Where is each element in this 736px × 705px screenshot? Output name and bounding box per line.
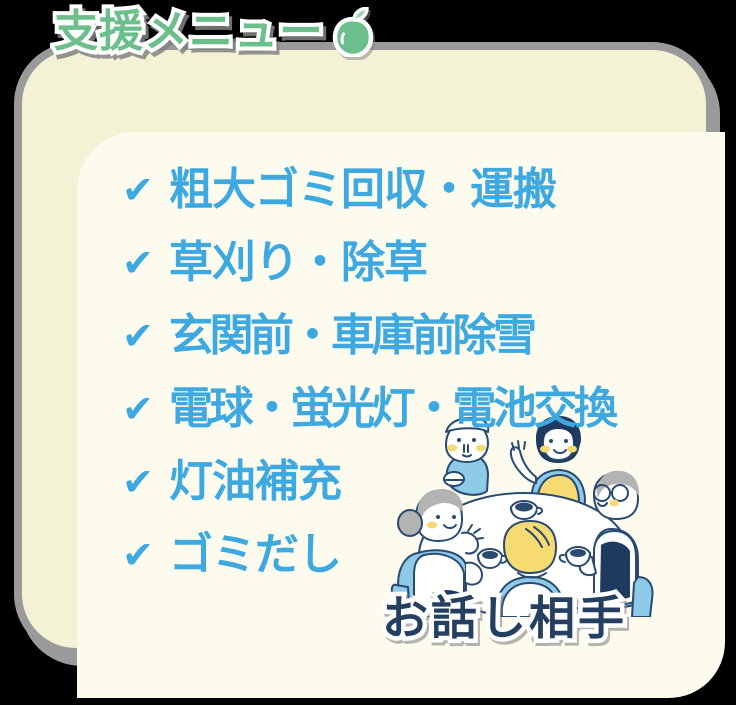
page-title: 支援メニュー [54, 10, 324, 54]
list-item-label: 玄関前・車庫前除雪 [169, 314, 534, 358]
list-item[interactable]: ✔ ゴミだし [122, 518, 702, 591]
check-icon: ✔ [122, 317, 156, 355]
page-title-banner: 支援メニュー [54, 2, 376, 62]
list-item-label: 電球・蛍光灯・電池交換 [169, 387, 615, 431]
caption-label: お話し相手 [382, 595, 627, 641]
check-icon: ✔ [122, 463, 156, 501]
list-item[interactable]: ✔ 電球・蛍光灯・電池交換 [122, 372, 702, 445]
apple-icon [330, 7, 376, 57]
check-icon: ✔ [122, 536, 156, 574]
caption-banner: お話し相手 [382, 595, 627, 641]
check-icon: ✔ [122, 244, 156, 282]
check-icon: ✔ [122, 390, 156, 428]
list-item[interactable]: ✔ 灯油補充 [122, 445, 702, 518]
menu-card-outer: ✔ 粗大ゴミ回収・運搬 ✔ 草刈り・除草 ✔ 玄関前・車庫前除雪 ✔ 電球・蛍光… [14, 42, 714, 656]
check-icon: ✔ [122, 171, 156, 209]
list-item[interactable]: ✔ 粗大ゴミ回収・運搬 [122, 153, 702, 226]
list-item-label: 灯油補充 [169, 460, 341, 504]
list-item-label: 粗大ゴミ回収・運搬 [169, 168, 556, 212]
list-item[interactable]: ✔ 玄関前・車庫前除雪 [122, 299, 702, 372]
list-item-label: 草刈り・除草 [169, 241, 427, 285]
list-item[interactable]: ✔ 草刈り・除草 [122, 226, 702, 299]
list-item-label: ゴミだし [169, 533, 341, 577]
support-menu-list: ✔ 粗大ゴミ回収・運搬 ✔ 草刈り・除草 ✔ 玄関前・車庫前除雪 ✔ 電球・蛍光… [122, 153, 702, 591]
